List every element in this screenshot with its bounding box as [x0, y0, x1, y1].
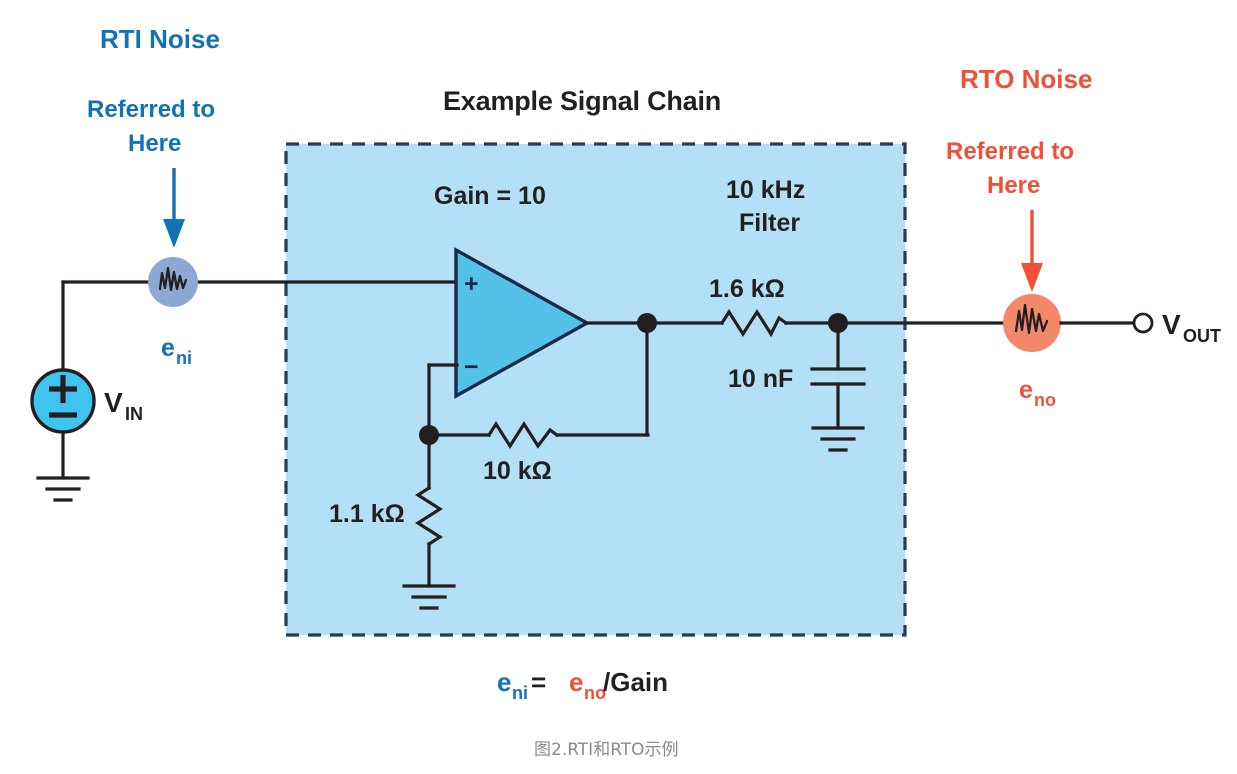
- vin-label-sub: IN: [125, 404, 143, 424]
- signal-chain-boundary: [286, 144, 905, 635]
- vout-label: V: [1162, 309, 1181, 340]
- ground-input-icon: [38, 478, 88, 500]
- formula-eni: e: [497, 667, 511, 697]
- rto-referred-line2: Here: [987, 172, 1040, 199]
- filter-heading-line1: 10 kHz: [726, 176, 805, 204]
- rti-referred-line1: Referred to: [87, 96, 215, 123]
- input-voltage-source: [32, 370, 94, 432]
- formula-eno: e: [569, 667, 583, 697]
- formula-eni-equals-eno-over-gain: e ni = e no /Gain: [497, 667, 668, 703]
- filter-heading-line2: Filter: [739, 209, 800, 237]
- output-terminal-icon: [1134, 314, 1152, 332]
- eni-label: e: [161, 334, 175, 362]
- figure-rti-rto-example: Example Signal Chain RTI Noise Referred …: [0, 0, 1237, 774]
- filter-resistor-label: 1.6 kΩ: [709, 275, 785, 303]
- vin-label: V: [104, 387, 123, 418]
- formula-eni-sub: ni: [512, 683, 528, 703]
- feedback-resistor-label: 10 kΩ: [483, 457, 552, 485]
- rto-noise-heading: RTO Noise: [960, 64, 1092, 94]
- eni-label-sub: ni: [176, 348, 192, 368]
- capacitor-label: 10 nF: [728, 365, 793, 393]
- gain-label: Gain = 10: [434, 182, 546, 210]
- input-noise-source: [148, 257, 198, 307]
- formula-tail: /Gain: [603, 667, 668, 697]
- opamp-plus-input-label: +: [464, 270, 479, 298]
- rti-noise-heading: RTI Noise: [100, 24, 220, 54]
- figure-caption: 图2.RTI和RTO示例: [534, 740, 679, 760]
- rto-referred-line1: Referred to: [946, 138, 1074, 165]
- eno-label-sub: no: [1034, 390, 1056, 410]
- rti-referred-line2: Here: [128, 130, 181, 157]
- rto-arrow-icon: [1021, 210, 1043, 292]
- rti-arrow-icon: [163, 168, 185, 248]
- output-noise-source: [1003, 294, 1061, 352]
- eno-label: e: [1019, 376, 1033, 404]
- vout-label-sub: OUT: [1183, 326, 1221, 346]
- formula-equals: =: [531, 667, 546, 697]
- figure-title: Example Signal Chain: [443, 86, 721, 116]
- opamp-minus-input-label: −: [464, 353, 479, 381]
- gain-resistor-label: 1.1 kΩ: [329, 500, 405, 528]
